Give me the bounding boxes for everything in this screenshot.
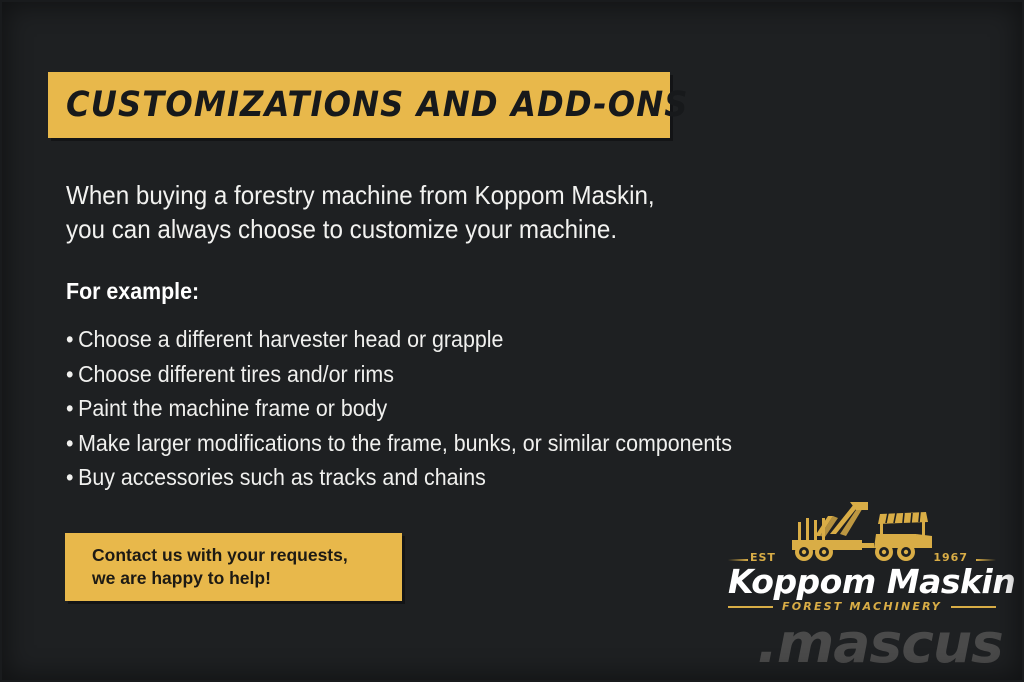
list-item: •Paint the machine frame or body xyxy=(66,391,773,426)
bullet-icon: • xyxy=(66,322,78,357)
intro-line-1: When buying a forestry machine from Kopp… xyxy=(66,178,717,212)
list-item: •Make larger modifications to the frame,… xyxy=(66,426,773,461)
contact-callout[interactable]: Contact us with your requests, we are ha… xyxy=(65,533,402,601)
list-item-label: Choose a different harvester head or gra… xyxy=(78,326,503,352)
logo-rule-right xyxy=(976,559,996,561)
list-item-label: Buy accessories such as tracks and chain… xyxy=(78,464,486,490)
intro-line-2: you can always choose to customize your … xyxy=(66,212,717,246)
list-item-label: Paint the machine frame or body xyxy=(78,395,387,421)
list-item: •Choose a different harvester head or gr… xyxy=(66,322,773,357)
bullet-icon: • xyxy=(66,357,78,392)
bullet-icon: • xyxy=(66,391,78,426)
list-item: •Choose different tires and/or rims xyxy=(66,357,773,392)
bullet-icon: • xyxy=(66,426,78,461)
contact-line-2: we are happy to help! xyxy=(92,567,402,590)
slide-canvas: CUSTOMIZATIONS AND ADD-ONS When buying a… xyxy=(0,0,1024,682)
list-item: •Buy accessories such as tracks and chai… xyxy=(66,460,773,495)
logo-brand-name: Koppom Maskin xyxy=(728,562,996,601)
mascus-watermark: .mascus xyxy=(757,612,1003,675)
page-title: CUSTOMIZATIONS AND ADD-ONS xyxy=(66,85,689,125)
for-example-label: For example: xyxy=(66,278,199,305)
logo-rule-left xyxy=(728,559,748,561)
list-item-label: Choose different tires and/or rims xyxy=(78,361,394,387)
logo-subtitle-rule-right xyxy=(951,606,996,608)
list-item-label: Make larger modifications to the frame, … xyxy=(78,430,732,456)
intro-paragraph: When buying a forestry machine from Kopp… xyxy=(66,178,717,246)
contact-line-1: Contact us with your requests, xyxy=(92,544,402,567)
customization-bullet-list: •Choose a different harvester head or gr… xyxy=(66,322,773,495)
title-banner: CUSTOMIZATIONS AND ADD-ONS xyxy=(48,72,670,138)
logo-subtitle-rule-left xyxy=(728,606,773,608)
bullet-icon: • xyxy=(66,460,78,495)
koppom-maskin-logo: EST 1967 Koppom Maskin FOREST MACHINERY xyxy=(728,500,996,610)
